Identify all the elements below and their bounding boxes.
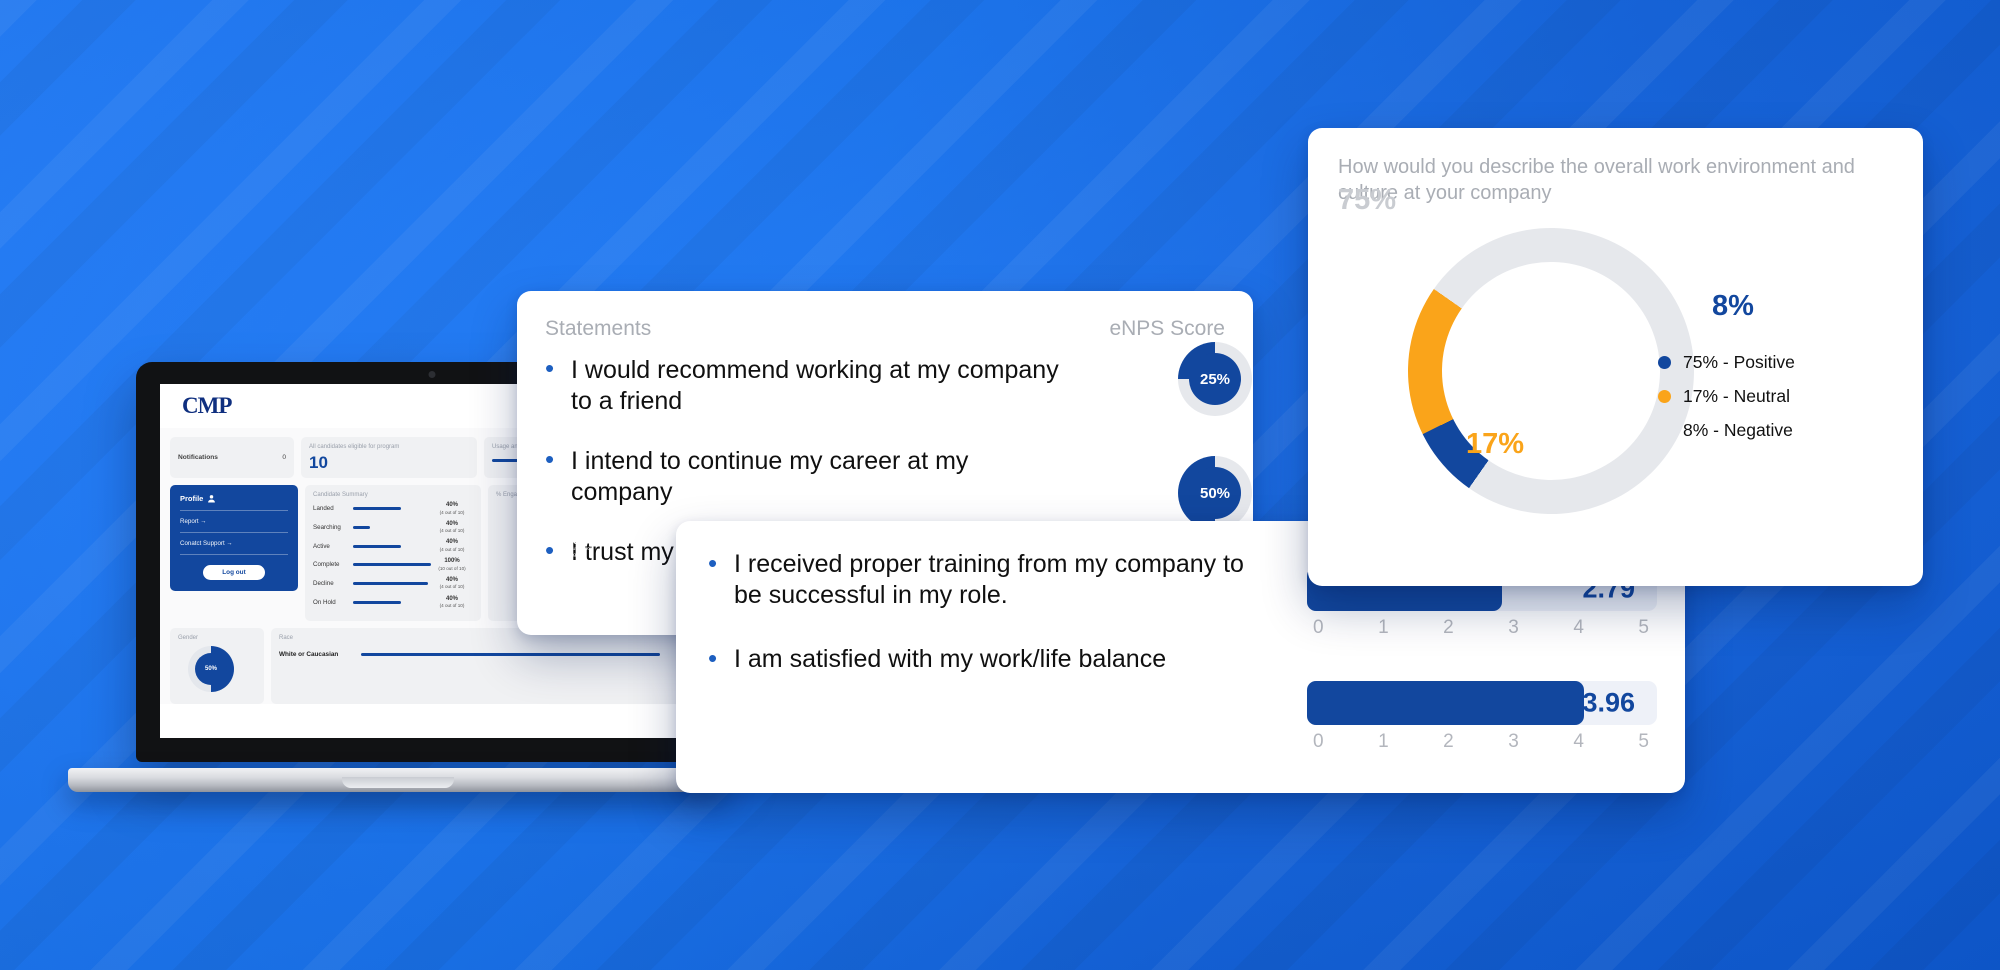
bullet-icon: • (545, 446, 571, 472)
bar-track: 3.96 (1307, 681, 1657, 725)
gender-label: Gender (178, 635, 256, 641)
summary-bar-wrap (353, 601, 431, 604)
legend-dot-neutral (1658, 390, 1671, 403)
engaged-donut-center: 50% (50 out of 100) Engaged (563, 537, 592, 559)
axis-tick: 4 (1573, 617, 1584, 639)
race-card: Race White or Caucasian 40% (4 out of 10… (271, 628, 718, 704)
bullet-icon: • (708, 644, 734, 672)
notifications-count: 0 (282, 454, 286, 461)
donut-label-blue: 8% (1712, 290, 1754, 323)
bullet-icon: • (545, 355, 571, 381)
candidate-summary-rows: Landed40%(4 out of 10)Searching40%(4 out… (313, 502, 473, 609)
list-item: • I intend to continue my career at my c… (545, 446, 1225, 507)
enps-ring-value: 50% (1189, 467, 1241, 519)
table-row: Searching40%(4 out of 10) (313, 521, 473, 534)
cmp-logo: CMP (182, 393, 231, 419)
table-row: On Hold40%(4 out of 10) (313, 596, 473, 609)
summary-bar-wrap (353, 507, 431, 510)
gender-donut-chart: 50% (188, 646, 234, 692)
enps-score-ring: 25% (1178, 342, 1252, 416)
score-bar-chart: 2.79 012345 3.96 012345 (1307, 567, 1657, 795)
eligible-label: All candidates eligible for program (309, 444, 469, 450)
summary-bar (353, 507, 401, 510)
statement-text: I received proper training from my compa… (734, 549, 1274, 610)
summary-pct: 100%(10 out of 10) (431, 558, 473, 571)
bar-block: 3.96 012345 (1307, 681, 1657, 753)
engaged-sub: (50 out of 100) (563, 546, 592, 551)
legend-dot-positive (1658, 356, 1671, 369)
profile-link-contact-support[interactable]: Conatct Support → (180, 540, 288, 547)
eligible-value: 10 (309, 454, 469, 471)
summary-bar (353, 582, 428, 585)
legend-label-positive: 75% - Positive (1683, 352, 1795, 373)
summary-pct: 40%(4 out of 10) (431, 577, 473, 590)
axis-tick: 2 (1443, 617, 1454, 639)
axis-tick: 3 (1508, 731, 1519, 753)
summary-bar-wrap (353, 563, 431, 566)
summary-row-name: Landed (313, 505, 353, 512)
donut-question-title: How would you describe the overall work … (1308, 128, 1913, 207)
summary-bar (353, 601, 401, 604)
summary-pct-sub: (10 out of 10) (431, 566, 473, 572)
axis-tick: 0 (1313, 617, 1324, 639)
laptop-trackpad-notch (342, 777, 454, 788)
summary-pct-sub: (4 out of 10) (431, 584, 473, 590)
bar-axis-ticks: 012345 (1307, 725, 1657, 753)
gender-value: 50% (205, 666, 217, 672)
summary-row-name: Active (313, 543, 353, 550)
laptop-base (68, 768, 728, 792)
summary-pct: 40%(4 out of 10) (431, 502, 473, 515)
engaged-value: 50% (563, 537, 592, 546)
race-row: White or Caucasian 40% (4 out of 10) (279, 648, 710, 659)
profile-name: Profile (180, 494, 203, 503)
eligible-candidates-card: All candidates eligible for program 10 (301, 437, 477, 478)
axis-tick: 5 (1638, 617, 1649, 639)
list-item: • I would recommend working at my compan… (545, 355, 1225, 416)
enps-ring-value: 25% (1189, 353, 1241, 405)
axis-tick: 2 (1443, 731, 1454, 753)
donut-label-negative-grey: 75% (1338, 184, 1396, 217)
legend-item: 75% - Positive (1658, 352, 1795, 373)
profile-link-report[interactable]: Report → (180, 518, 288, 525)
legend-dot-negative (1658, 424, 1671, 437)
summary-pct-sub: (4 out of 10) (431, 603, 473, 609)
statements-header: Statements eNPS Score (517, 291, 1253, 341)
statement-text: I would recommend working at my company … (571, 355, 1061, 416)
summary-row-name: Searching (313, 524, 353, 531)
donut-chart (1408, 228, 1694, 514)
summary-bar-wrap (353, 526, 431, 529)
race-bar (361, 653, 660, 656)
summary-bar-wrap (353, 582, 431, 585)
summary-pct-sub: (4 out of 10) (431, 547, 473, 553)
summary-pct: 40%(4 out of 10) (431, 596, 473, 609)
axis-tick: 5 (1638, 731, 1649, 753)
gender-card: Gender 50% (170, 628, 264, 704)
axis-tick: 1 (1378, 617, 1389, 639)
race-row-name: White or Caucasian (279, 651, 353, 658)
bar-fill (1307, 681, 1584, 725)
engaged-caption: Engaged (563, 553, 592, 559)
donut-label-orange: 17% (1466, 428, 1524, 461)
bullet-icon: • (708, 549, 734, 577)
summary-bar (353, 563, 431, 566)
profile-panel: Profile Report → Conatct Support → Log o… (170, 485, 298, 591)
summary-bar (353, 526, 370, 529)
legend-item: 8% - Negative (1658, 420, 1795, 441)
bar-axis-ticks: 012345 (1307, 611, 1657, 639)
notifications-card[interactable]: Notifications 0 (170, 437, 294, 478)
table-row: Decline40%(4 out of 10) (313, 577, 473, 590)
legend-label-neutral: 17% - Neutral (1683, 386, 1790, 407)
legend-label-negative: 8% - Negative (1683, 420, 1793, 441)
summary-bar (353, 545, 401, 548)
divider (180, 554, 288, 555)
summary-pct-sub: (4 out of 10) (431, 528, 473, 534)
summary-row-name: Complete (313, 561, 353, 568)
statements-column-header: Statements (545, 317, 651, 341)
profile-title: Profile (180, 494, 288, 503)
table-row: Landed40%(4 out of 10) (313, 502, 473, 515)
statement-text: I am satisfied with my work/life balance (734, 644, 1166, 675)
work-environment-donut-card: How would you describe the overall work … (1308, 128, 1923, 586)
logout-button[interactable]: Log out (203, 565, 265, 580)
enps-score-ring: 50% (1178, 456, 1252, 530)
summary-row-name: Decline (313, 580, 353, 587)
bar-value-label: 3.96 (1582, 688, 1635, 719)
race-label: Race (279, 635, 710, 641)
axis-tick: 3 (1508, 617, 1519, 639)
table-row: Active40%(4 out of 10) (313, 539, 473, 552)
notifications-label: Notifications (178, 454, 218, 461)
divider (180, 532, 288, 533)
axis-tick: 0 (1313, 731, 1324, 753)
enps-column-header: eNPS Score (1109, 317, 1225, 341)
candidate-summary-label: Candidate Summary (313, 492, 473, 498)
table-row: Complete100%(10 out of 10) (313, 558, 473, 571)
user-icon (207, 494, 216, 503)
summary-row-name: On Hold (313, 599, 353, 606)
statement-text: I intend to continue my career at my com… (571, 446, 1061, 507)
summary-pct-sub: (4 out of 10) (431, 510, 473, 516)
divider (180, 510, 288, 511)
candidate-summary-card: Candidate Summary Landed40%(4 out of 10)… (305, 485, 481, 621)
legend-item: 17% - Neutral (1658, 386, 1795, 407)
summary-bar-wrap (353, 545, 431, 548)
axis-tick: 4 (1573, 731, 1584, 753)
donut-legend: 75% - Positive 17% - Neutral 8% - Negati… (1658, 352, 1795, 454)
summary-pct: 40%(4 out of 10) (431, 539, 473, 552)
axis-tick: 1 (1378, 731, 1389, 753)
summary-pct: 40%(4 out of 10) (431, 521, 473, 534)
